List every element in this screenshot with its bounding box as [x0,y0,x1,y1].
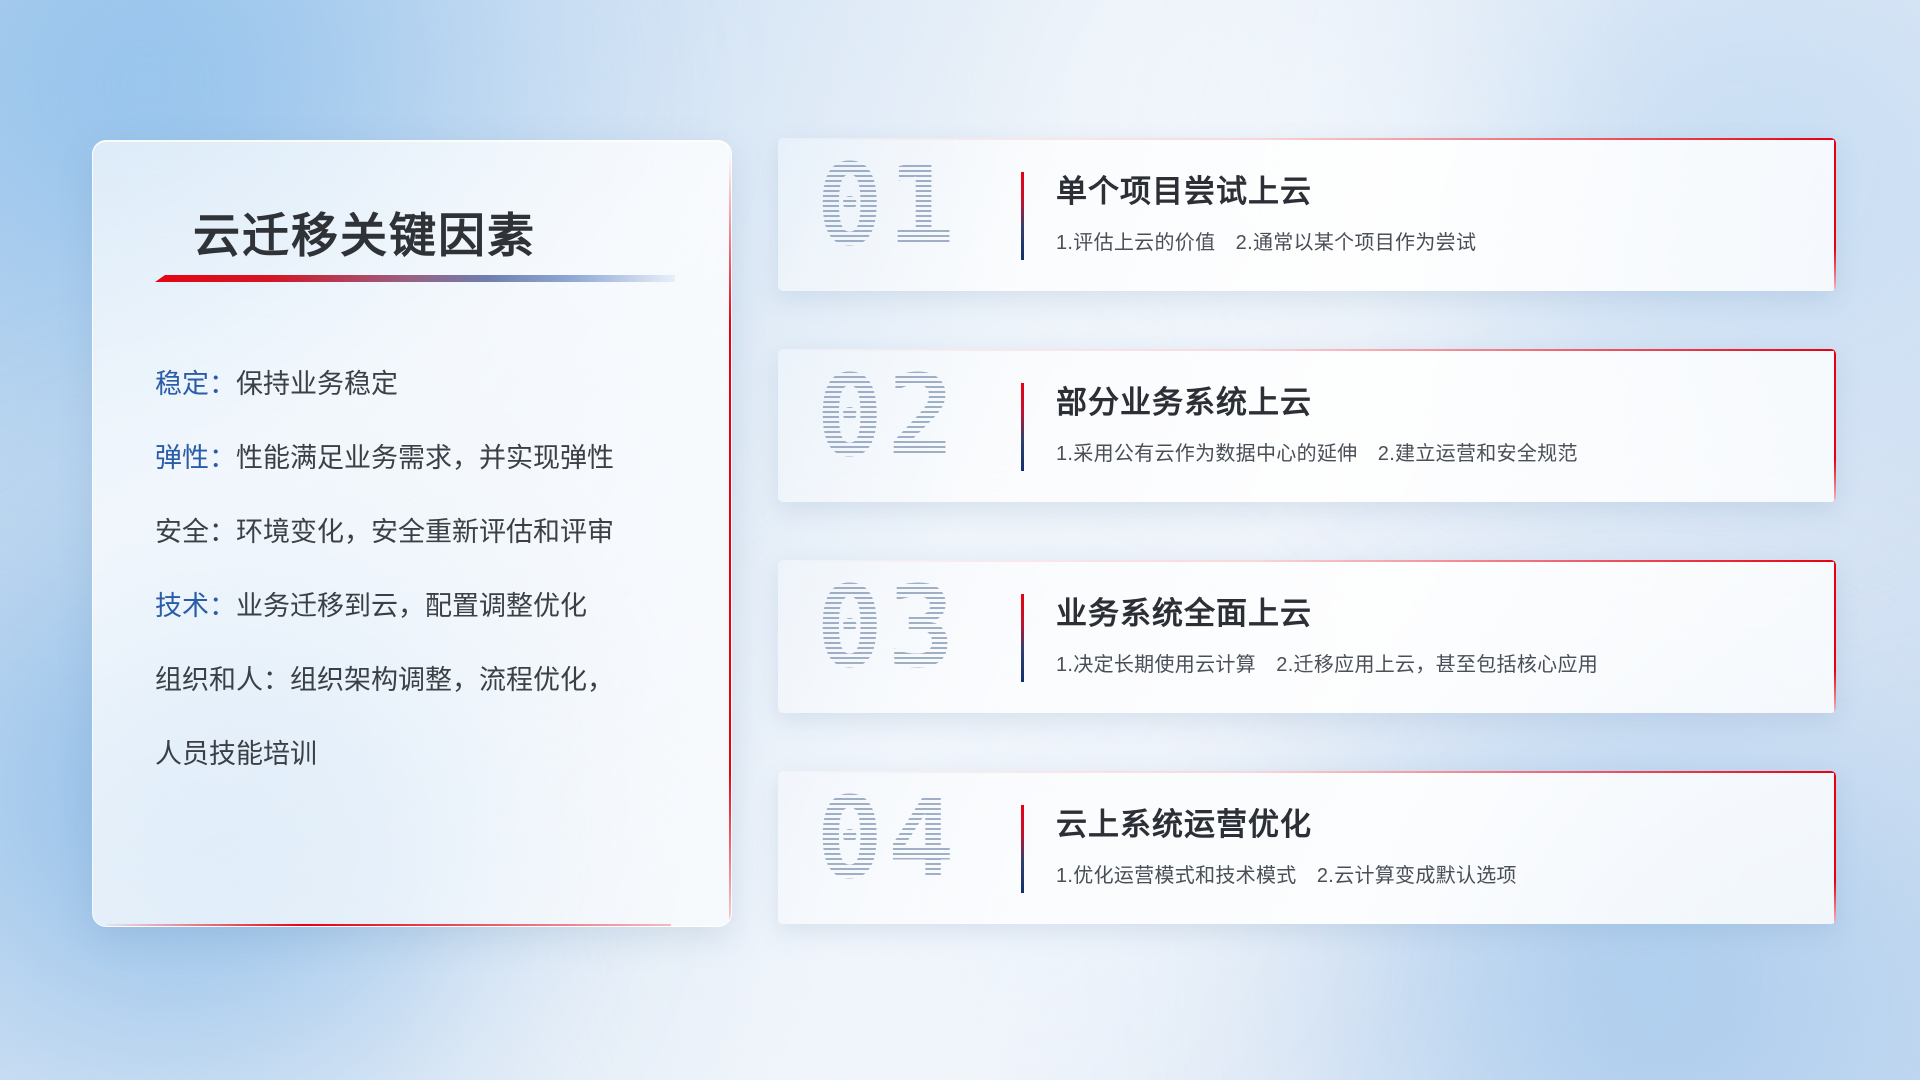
key-factor-item: 组织和人：组织架构调整，流程优化， [155,667,691,694]
stage-accent-bar [1021,805,1024,893]
migration-stage-card[interactable]: 01单个项目尝试上云1.评估上云的价值 2.通常以某个项目作为尝试 [778,138,1836,291]
key-factor-label: 技术： [155,591,236,621]
migration-stage-card[interactable]: 03业务系统全面上云1.决定长期使用云计算 2.迁移应用上云，甚至包括核心应用 [778,560,1836,713]
key-factor-text: 人员技能培训 [155,739,317,769]
stage-number: 04 [816,783,959,895]
key-factor-item: 人员技能培训 [155,741,691,768]
key-factors-list: 稳定：保持业务稳定弹性：性能满足业务需求，并实现弹性安全：环境变化，安全重新评估… [155,371,691,815]
migration-stage-card[interactable]: 04云上系统运营优化1.优化运营模式和技术模式 2.云计算变成默认选项 [778,771,1836,924]
stage-subtitle: 1.优化运营模式和技术模式 2.云计算变成默认选项 [1056,859,1517,888]
migration-stages-list: 01单个项目尝试上云1.评估上云的价值 2.通常以某个项目作为尝试02部分业务系… [778,138,1836,982]
key-factor-text: 组织架构调整，流程优化， [290,665,614,695]
key-factors-panel: 云迁移关键因素 稳定：保持业务稳定弹性：性能满足业务需求，并实现弹性安全：环境变… [92,140,732,927]
key-factor-label: 组织和人： [155,665,290,695]
stage-title: 部分业务系统上云 [1056,377,1312,422]
stage-title: 云上系统运营优化 [1056,799,1312,844]
key-factor-item: 安全：环境变化，安全重新评估和评审 [155,519,691,546]
stage-subtitle: 1.采用公有云作为数据中心的延伸 2.建立运营和安全规范 [1056,437,1578,466]
key-factor-label: 稳定： [155,369,236,399]
key-factor-item: 技术：业务迁移到云，配置调整优化 [155,593,691,620]
stage-subtitle: 1.决定长期使用云计算 2.迁移应用上云，甚至包括核心应用 [1056,648,1598,677]
stage-subtitle: 1.评估上云的价值 2.通常以某个项目作为尝试 [1056,226,1476,255]
stage-title: 单个项目尝试上云 [1056,166,1312,211]
stage-number: 02 [816,361,959,473]
key-factor-item: 弹性：性能满足业务需求，并实现弹性 [155,445,691,472]
key-factor-text: 业务迁移到云，配置调整优化 [236,591,587,621]
key-factor-item: 稳定：保持业务稳定 [155,371,691,398]
title-underline-rule [155,275,675,282]
stage-number: 01 [816,150,959,262]
key-factor-label: 弹性： [155,443,236,473]
migration-stage-card[interactable]: 02部分业务系统上云1.采用公有云作为数据中心的延伸 2.建立运营和安全规范 [778,349,1836,502]
stage-accent-bar [1021,172,1024,260]
key-factor-text: 保持业务稳定 [236,369,398,399]
stage-title: 业务系统全面上云 [1056,588,1312,633]
key-factor-text: 环境变化，安全重新评估和评审 [236,517,614,547]
stage-accent-bar [1021,594,1024,682]
key-factor-text: 性能满足业务需求，并实现弹性 [236,443,614,473]
stage-number: 03 [816,572,959,684]
key-factor-label: 安全： [155,517,236,547]
page-title: 云迁移关键因素 [193,197,536,266]
stage-accent-bar [1021,383,1024,471]
